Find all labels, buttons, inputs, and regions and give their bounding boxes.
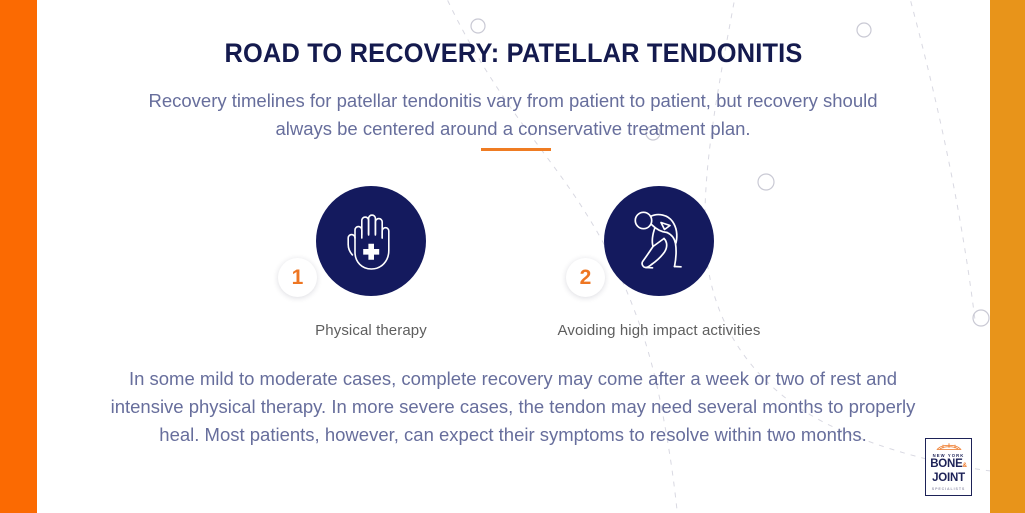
body-paragraph: In some mild to moderate cases, complete… — [93, 365, 933, 449]
steps-row: 1 Physical therapy — [37, 186, 990, 346]
logo-line-2: JOINT — [932, 472, 965, 484]
step-1-icon-circle — [316, 186, 426, 296]
logo-tagline: SPECIALISTS — [932, 487, 965, 491]
step-2-number-badge: 2 — [566, 258, 605, 297]
brand-logo: NEW YORK BONE& JOINT SPECIALISTS — [925, 438, 972, 496]
logo-bone-text: BONE — [930, 458, 962, 470]
person-bending-holding-knee-icon — [626, 207, 692, 275]
page-subtitle: Recovery timelines for patellar tendonit… — [133, 87, 893, 143]
logo-ampersand: & — [963, 463, 967, 469]
step-item-1: 1 Physical therapy — [241, 186, 501, 339]
medical-cross-shape — [363, 244, 379, 260]
step-1-circle-wrap: 1 — [316, 186, 426, 296]
logo-line-1: BONE& — [930, 458, 967, 472]
page-title: ROAD TO RECOVERY: PATELLAR TENDONITIS — [66, 38, 962, 69]
step-2-circle-wrap: 2 — [604, 186, 714, 296]
left-orange-bar — [0, 0, 37, 513]
new-york-skyline-bridge-icon — [936, 442, 962, 451]
content-stage: ROAD TO RECOVERY: PATELLAR TENDONITIS Re… — [37, 0, 990, 513]
step-2-label: Avoiding high impact activities — [529, 322, 789, 339]
orange-divider — [481, 148, 551, 151]
infographic-canvas: ROAD TO RECOVERY: PATELLAR TENDONITIS Re… — [0, 0, 1025, 513]
right-orange-bar — [990, 0, 1025, 513]
step-1-label: Physical therapy — [241, 322, 501, 339]
step-1-number-badge: 1 — [278, 258, 317, 297]
step-2-icon-circle — [604, 186, 714, 296]
step-item-2: 2 Avoiding high impact activities — [529, 186, 789, 339]
hand-with-medical-cross-icon — [340, 208, 402, 274]
